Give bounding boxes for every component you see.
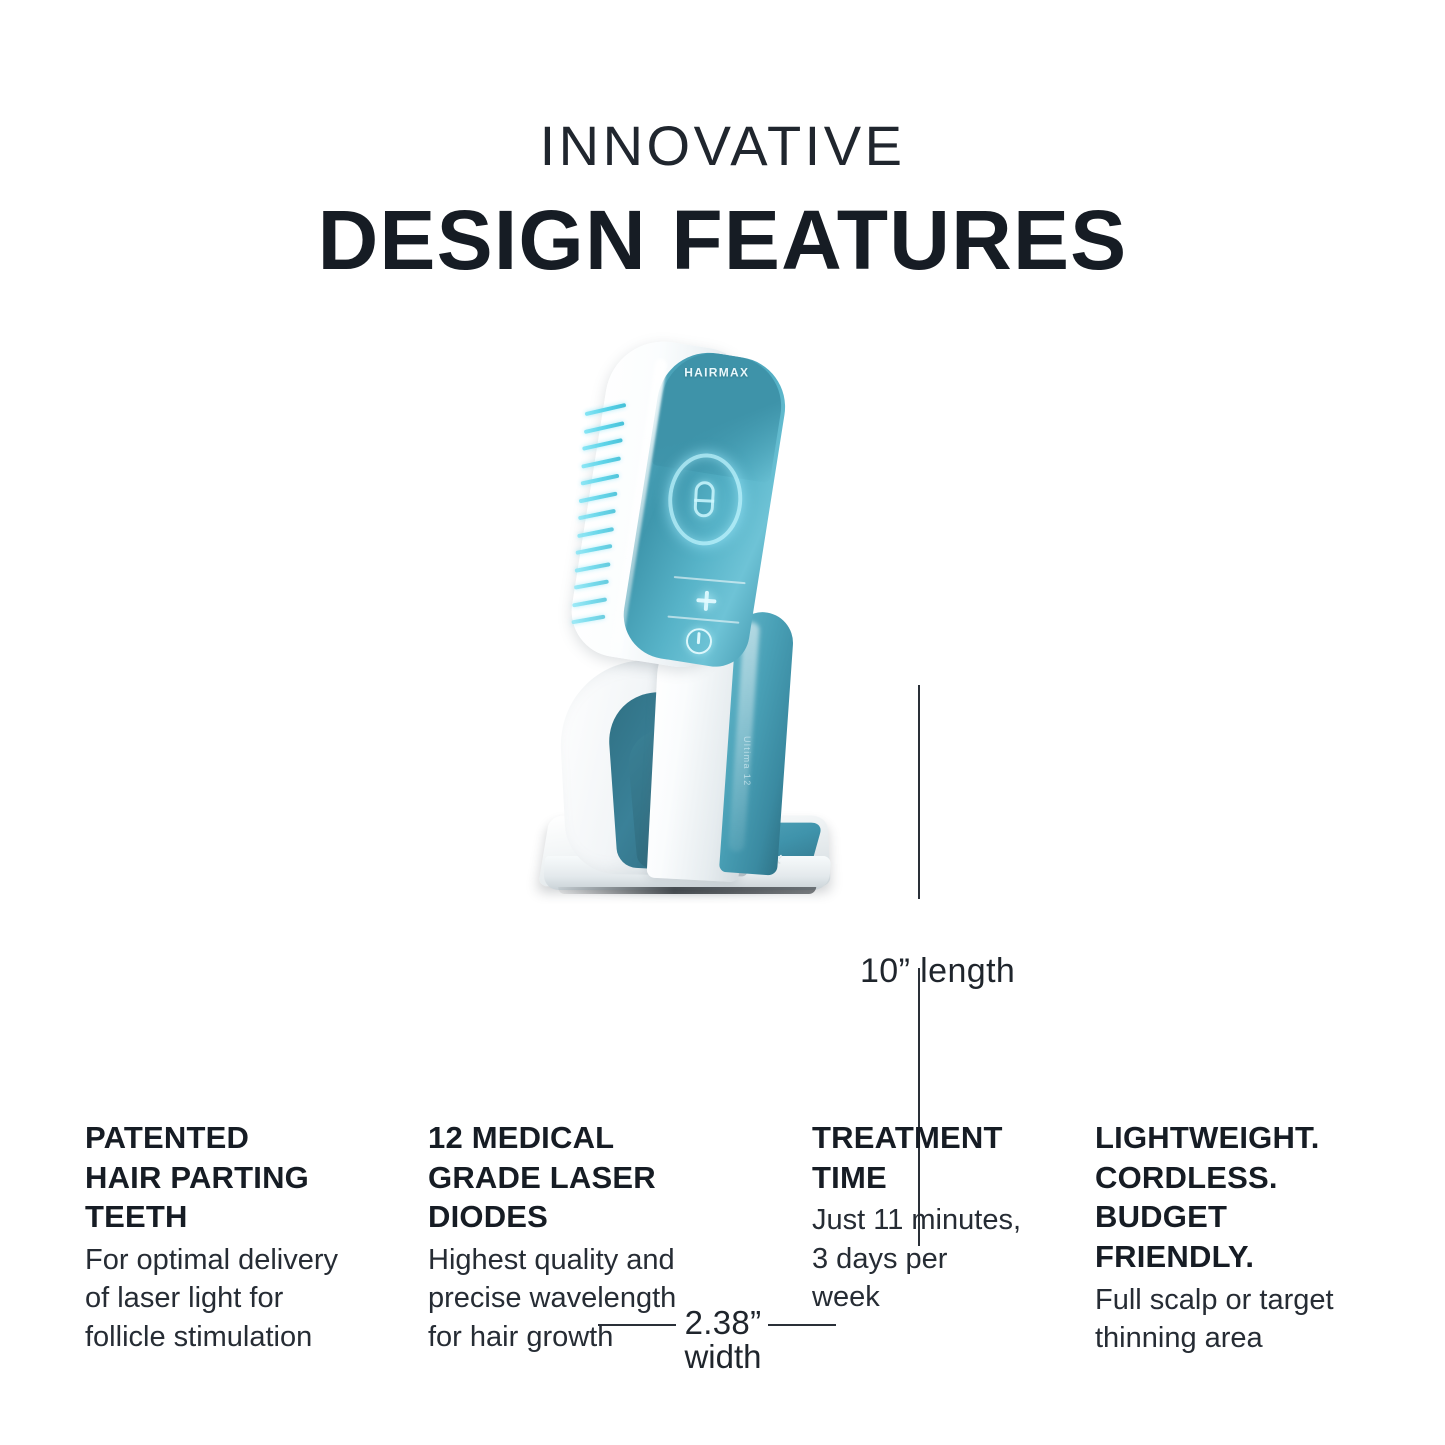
comb-tooth xyxy=(581,456,621,468)
length-dimension-label: 10” length xyxy=(860,952,1015,991)
length-dimension-line-top xyxy=(918,685,920,899)
comb-tooth xyxy=(583,421,624,434)
comb-tooth xyxy=(578,509,616,520)
product-device-hairmax-laser-comb: HAIRMAX Ultima 12 HAIRMAX xyxy=(520,340,920,940)
feature-column-12-medical-grade-laser-diodes: 12 MEDICAL GRADE LASER DIODES Highest qu… xyxy=(428,1118,728,1356)
feature-title: PATENTED HAIR PARTING TEETH xyxy=(85,1118,385,1237)
feature-body: Just 11 minutes, 3 days per week xyxy=(812,1201,1057,1316)
comb-tooth xyxy=(571,615,605,625)
feature-body: For optimal delivery of laser light for … xyxy=(85,1241,385,1356)
feature-title: TREATMENT TIME xyxy=(812,1118,1057,1197)
comb-tooth xyxy=(582,438,623,451)
comb-tooth xyxy=(585,403,627,416)
comb-tooth xyxy=(580,473,619,485)
handle-model-label: Ultima 12 xyxy=(742,736,752,787)
comb-tooth xyxy=(579,491,618,503)
comb-tooth xyxy=(575,562,611,573)
feature-column-treatment-time: TREATMENT TIME Just 11 minutes, 3 days p… xyxy=(812,1118,1057,1316)
product-image-stage: HAIRMAX Ultima 12 HAIRMAX 10” lengt xyxy=(0,330,1445,1060)
comb-tooth xyxy=(576,544,613,555)
charging-base-bottom-edge xyxy=(558,887,816,894)
page-header: INNOVATIVE DESIGN FEATURES xyxy=(0,0,1445,282)
feature-column-patented-hair-parting-teeth: PATENTED HAIR PARTING TEETH For optimal … xyxy=(85,1118,385,1356)
wand-brand-logo: HAIRMAX xyxy=(684,366,749,380)
comb-tooth xyxy=(572,597,607,607)
feature-title: 12 MEDICAL GRADE LASER DIODES xyxy=(428,1118,728,1237)
comb-tooth xyxy=(573,579,608,589)
feature-body: Full scalp or target thinning area xyxy=(1095,1281,1395,1358)
laser-light-icon[interactable] xyxy=(696,590,717,611)
feature-body: Highest quality and precise wavelength f… xyxy=(428,1241,728,1356)
comb-tooth xyxy=(577,526,614,537)
feature-columns: PATENTED HAIR PARTING TEETH For optimal … xyxy=(0,1118,1445,1418)
kicker-text: INNOVATIVE xyxy=(0,118,1445,174)
feature-title: LIGHTWEIGHT. CORDLESS. BUDGET FRIENDLY. xyxy=(1095,1118,1395,1277)
battery-indicator-glyph-icon xyxy=(693,481,715,518)
feature-column-lightweight-cordless-budget-friendly: LIGHTWEIGHT. CORDLESS. BUDGET FRIENDLY. … xyxy=(1095,1118,1395,1357)
page-title: DESIGN FEATURES xyxy=(0,198,1445,282)
